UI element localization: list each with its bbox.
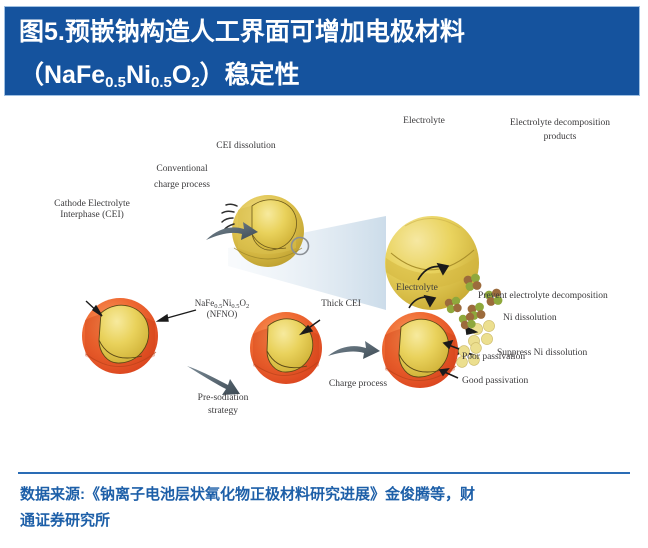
title-formula-sub-3: 2	[191, 74, 199, 91]
decomposition-product-particles-bottom	[445, 297, 476, 329]
footer-source-line-1: 数据来源:《钠离子电池层状氧化物正极材料研究进展》金俊腾等，财	[20, 482, 630, 508]
label-decomposition-line2: products	[544, 132, 577, 142]
title-formula-sub-1: 0.5	[105, 74, 126, 91]
sphere-good-passivation	[382, 312, 458, 388]
label-electrolyte-bottom: Electrolyte	[396, 283, 438, 293]
figure-title-line-2: （NaFe0.5Ni0.5O2）稳定性	[19, 54, 627, 100]
label-conventional-line2: charge process	[154, 180, 210, 190]
title-formula-mid-1: Ni	[126, 61, 151, 89]
sphere-magnified-poor-passivation	[385, 216, 479, 310]
figure-title-bar: 图5.预嵌钠构造人工界面可增加电极材料 （NaFe0.5Ni0.5O2）稳定性	[4, 6, 640, 96]
label-ni-dissolution: Ni dissolution	[503, 313, 557, 323]
label-cathode-electrolyte-line1: Cathode Electrolyte	[54, 199, 130, 209]
title-formula-sub-2: 0.5	[151, 74, 172, 91]
label-pre-sodiation-line2: strategy	[208, 406, 238, 416]
label-prevent-decomposition: Prevent electrolyte decomposition	[478, 291, 608, 301]
label-suppress-ni: Suppress Ni dissolution	[497, 348, 588, 358]
title-formula-suffix: ）稳定性	[200, 61, 300, 89]
title-formula-mid-2: O	[172, 61, 191, 89]
footer-source-text: 数据来源:《钠离子电池层状氧化物正极材料研究进展》金俊腾等，财 通证券研究所	[20, 482, 630, 534]
leader-line-nfno	[158, 310, 196, 321]
footer-source-line-2: 通证券研究所	[20, 508, 630, 534]
figure-image: Cathode Electrolyte Interphase (CEI) Con…	[0, 98, 648, 450]
arrow-charge-process	[328, 341, 380, 359]
label-conventional-line1: Conventional	[156, 164, 208, 174]
label-decomposition-line1: Electrolyte decomposition	[510, 118, 610, 128]
figure-title-line-1: 图5.预嵌钠构造人工界面可增加电极材料	[19, 11, 627, 54]
figure-source-footer: 数据来源:《钠离子电池层状氧化物正极材料研究进展》金俊腾等，财 通证券研究所	[0, 452, 648, 548]
label-nfno-abbrev: (NFNO)	[207, 309, 238, 319]
title-formula-prefix: （NaFe	[19, 61, 105, 89]
label-pre-sodiation-line1: Pre-sodiation	[198, 393, 249, 403]
label-cathode-electrolyte-line2: Interphase (CEI)	[60, 209, 124, 220]
footer-divider	[18, 472, 630, 474]
sphere-thick-cei	[250, 312, 322, 384]
label-electrolyte-top: Electrolyte	[403, 116, 445, 126]
arrow-pre-sodiation	[187, 366, 240, 395]
label-good-passivation: Good passivation	[462, 376, 528, 386]
label-charge-process: Charge process	[329, 379, 387, 389]
label-thick-cei: Thick CEI	[321, 299, 361, 309]
schematic-diagram: Cathode Electrolyte Interphase (CEI) Con…	[0, 98, 648, 450]
label-cei-dissolution: CEI dissolution	[216, 141, 276, 151]
